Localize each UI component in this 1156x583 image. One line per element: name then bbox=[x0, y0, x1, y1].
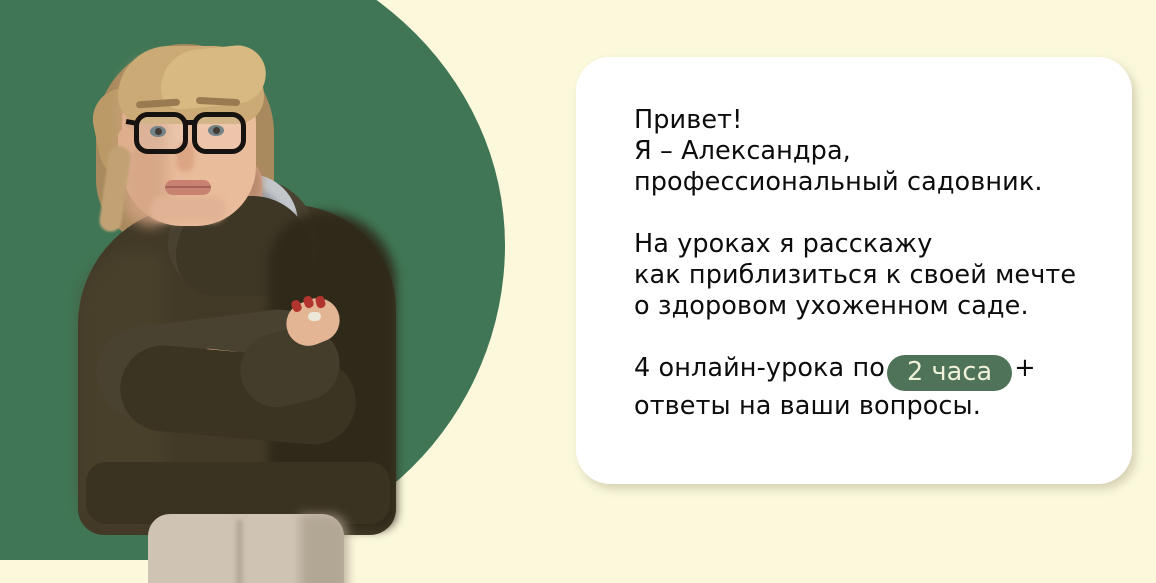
lessons-line-2: как приблизиться к своей мечте bbox=[634, 260, 1094, 291]
lip-line bbox=[165, 186, 211, 188]
offer-prefix: 4 онлайн-урока по bbox=[634, 353, 885, 383]
trousers-seam bbox=[236, 520, 243, 583]
offer-suffix: + bbox=[1014, 353, 1035, 383]
trousers-shadow bbox=[300, 514, 348, 583]
promo-banner: Привет! Я – Александра, профессиональный… bbox=[0, 0, 1156, 583]
info-card: Привет! Я – Александра, профессиональный… bbox=[576, 57, 1132, 484]
offer-line-1: 4 онлайн-урока по2 часа+ bbox=[634, 353, 1094, 391]
eyeglasses-bridge bbox=[186, 120, 196, 125]
instructor-photo bbox=[0, 0, 420, 583]
paragraph-lessons: На уроках я расскажу как приблизиться к … bbox=[634, 229, 1094, 322]
offer-line-2: ответы на ваши вопросы. bbox=[634, 391, 1094, 422]
ring bbox=[308, 312, 321, 321]
duration-badge: 2 часа bbox=[887, 355, 1012, 391]
lessons-line-3: о здоровом ухоженном саде. bbox=[634, 291, 1094, 322]
eyeglasses-lens-right bbox=[192, 112, 246, 154]
paragraph-offer: 4 онлайн-урока по2 часа+ ответы на ваши … bbox=[634, 353, 1094, 422]
intro-line-2: Я – Александра, bbox=[634, 136, 1094, 167]
paragraph-intro: Привет! Я – Александра, профессиональный… bbox=[634, 105, 1094, 198]
lessons-line-1: На уроках я расскажу bbox=[634, 229, 1094, 260]
eyeglasses-lens-left bbox=[134, 112, 188, 154]
chin bbox=[150, 196, 226, 222]
info-card-text: Привет! Я – Александра, профессиональный… bbox=[634, 105, 1094, 422]
intro-line-1: Привет! bbox=[634, 105, 1094, 136]
intro-line-3: профессиональный садовник. bbox=[634, 167, 1094, 198]
